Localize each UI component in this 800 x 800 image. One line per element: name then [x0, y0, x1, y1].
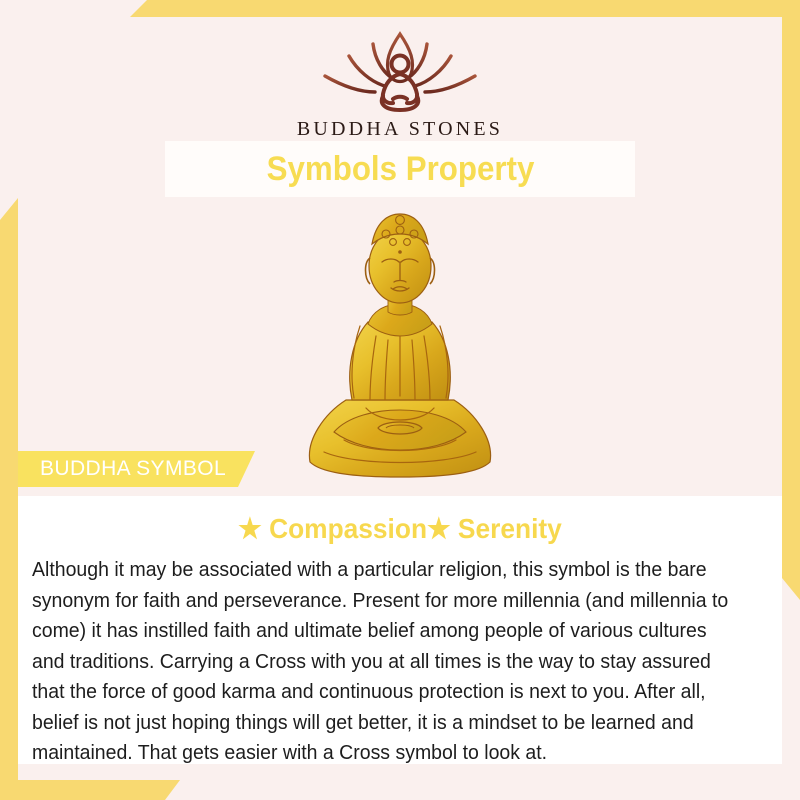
content-subheading: ★ Compassion★ Serenity [41, 512, 759, 545]
brand-name: BUDDHA STONES [0, 118, 800, 141]
page-title: Symbols Property [266, 150, 534, 189]
hero-image [0, 200, 800, 495]
content-body: Although it may be associated with a par… [32, 555, 742, 769]
section-tag: BUDDHA SYMBOL [18, 451, 255, 487]
brand-logo: BUDDHA STONES [0, 26, 800, 141]
decor-band-top [0, 0, 800, 17]
title-banner: Symbols Property [165, 141, 635, 197]
poster-root: BUDDHA STONES Symbols Property [0, 0, 800, 800]
buddha-statue-icon [0, 200, 800, 490]
content-panel: ★ Compassion★ Serenity Although it may b… [18, 496, 782, 764]
section-tag-label: BUDDHA SYMBOL [40, 457, 226, 481]
lotus-meditation-figure-icon [0, 26, 800, 112]
decor-band-bottom [0, 780, 800, 800]
